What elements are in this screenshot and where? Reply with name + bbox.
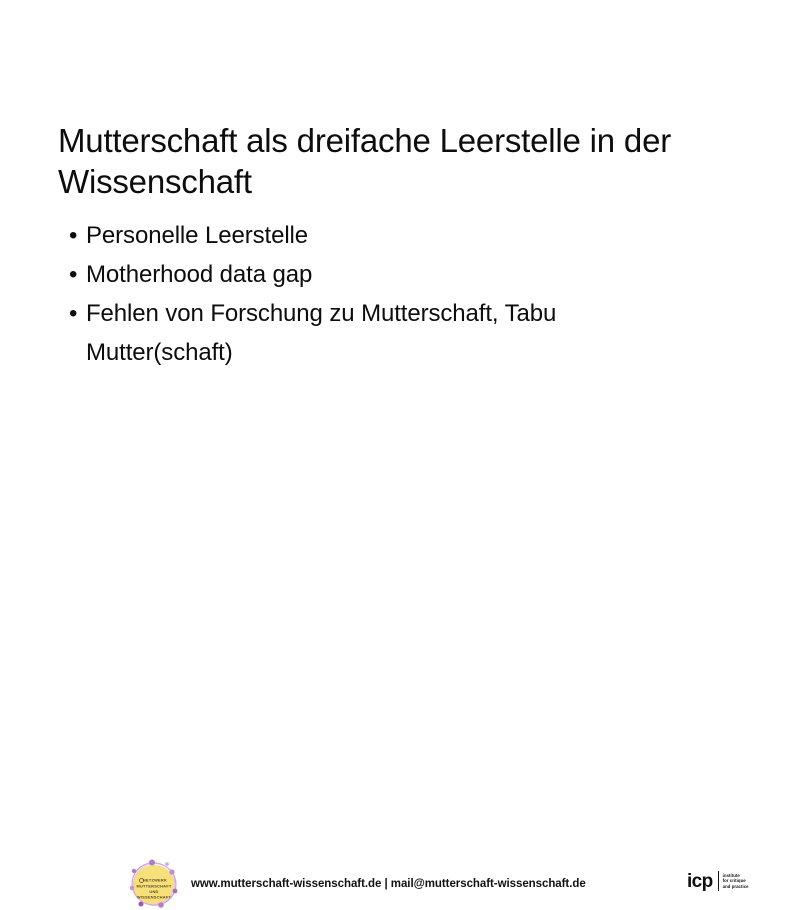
list-item: • Motherhood data gap	[68, 255, 688, 294]
page-title: Mutterschaft als dreifache Leerstelle in…	[58, 120, 748, 202]
icp-divider	[718, 871, 719, 891]
list-item: • Fehlen von Forschung zu Mutterschaft, …	[68, 294, 688, 372]
bullet-marker-icon: •	[69, 216, 77, 255]
icp-wordmark: icp	[687, 872, 713, 891]
footer-contact-line[interactable]: www.mutterschaft-wissenschaft.de | mail@…	[191, 876, 586, 892]
bullet-marker-icon: •	[69, 294, 77, 333]
svg-text:NETZWERK: NETZWERK	[143, 878, 167, 883]
list-item-label: Personelle Leerstelle	[86, 222, 308, 249]
svg-text:WISSENSCHAFT: WISSENSCHAFT	[137, 895, 171, 900]
bullet-list: • Personelle Leerstelle • Motherhood dat…	[68, 216, 688, 372]
svg-text:UND: UND	[149, 889, 158, 894]
icp-tagline: institute for critique and practice	[723, 873, 749, 889]
list-item-label: Fehlen von Forschung zu Mutterschaft, Ta…	[86, 300, 556, 366]
svg-text:MUTTERSCHAFT: MUTTERSCHAFT	[137, 883, 172, 888]
footer-accent-bar	[14, 477, 786, 504]
icp-logo: icp institute for critique and practice	[687, 869, 749, 893]
slide-canvas: Mutterschaft als dreifache Leerstelle in…	[0, 0, 800, 566]
list-item: • Personelle Leerstelle	[68, 216, 688, 255]
icp-tagline-line-2: for critique	[723, 878, 749, 883]
network-mutterschaft-wissenschaft-logo-icon: NETZWERK MUTTERSCHAFT UND WISSENSCHAFT	[128, 858, 180, 910]
bullet-marker-icon: •	[69, 255, 77, 294]
icp-tagline-line-3: and practice	[723, 884, 749, 889]
list-item-label: Motherhood data gap	[86, 261, 312, 288]
